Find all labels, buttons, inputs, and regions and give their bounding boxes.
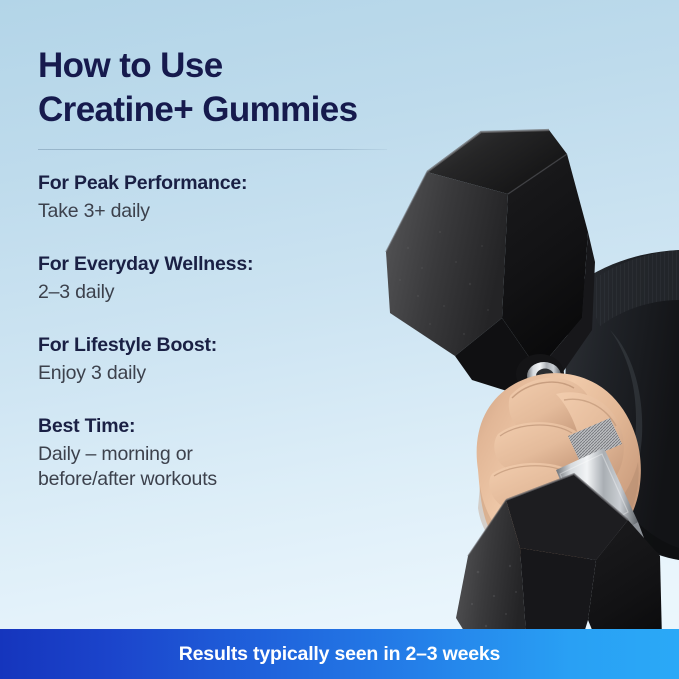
title-divider <box>38 149 387 150</box>
tip-item-best-time: Best Time: Daily – morning or before/aft… <box>38 413 398 493</box>
tip-item-lifestyle-boost: For Lifestyle Boost: Enjoy 3 daily <box>38 332 398 386</box>
results-banner: Results typically seen in 2–3 weeks <box>0 629 679 679</box>
tip-value: Daily – morning or before/after workouts <box>38 442 398 493</box>
tip-value: 2–3 daily <box>38 280 398 306</box>
tip-label: For Peak Performance: <box>38 170 398 196</box>
hand-holding-dumbbell-photo <box>360 0 679 629</box>
tip-value: Enjoy 3 daily <box>38 361 398 387</box>
tip-item-peak-performance: For Peak Performance: Take 3+ daily <box>38 170 398 224</box>
text-column: How to Use Creatine+ Gummies For Peak Pe… <box>38 44 398 493</box>
page-title: How to Use Creatine+ Gummies <box>38 44 398 132</box>
tip-label: Best Time: <box>38 413 398 439</box>
tip-value: Take 3+ daily <box>38 199 398 225</box>
tip-label: For Lifestyle Boost: <box>38 332 398 358</box>
tip-label: For Everyday Wellness: <box>38 251 398 277</box>
tip-item-everyday-wellness: For Everyday Wellness: 2–3 daily <box>38 251 398 305</box>
usage-tips-list: For Peak Performance: Take 3+ daily For … <box>38 170 398 493</box>
results-banner-text: Results typically seen in 2–3 weeks <box>179 643 500 666</box>
infographic-card: How to Use Creatine+ Gummies For Peak Pe… <box>0 0 679 679</box>
